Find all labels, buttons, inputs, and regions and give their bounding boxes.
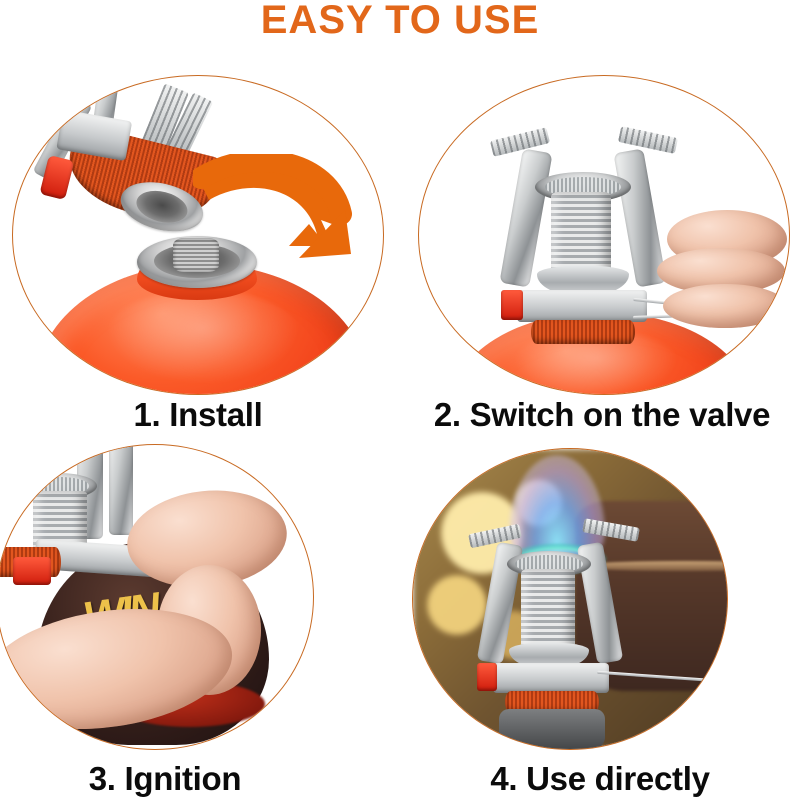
- step-4-caption: 4. Use directly: [400, 760, 800, 798]
- step-1-caption: 1. Install: [12, 396, 384, 434]
- stove-base-block: [56, 109, 132, 161]
- stove-base-block: [493, 663, 609, 693]
- hand: [87, 481, 314, 731]
- piezo-ignition-button: [501, 290, 523, 320]
- step-1-photo: [12, 75, 384, 395]
- page-title: EASY TO USE: [0, 0, 800, 43]
- step-4-illustration: [413, 449, 727, 749]
- stove-arm-top-right: [618, 126, 678, 154]
- step-2-caption: 2. Switch on the valve: [404, 396, 800, 434]
- curved-down-arrow-icon: [193, 154, 353, 274]
- finger-middle: [663, 284, 787, 328]
- burner-body: [551, 192, 611, 276]
- piezo-ignition-button: [13, 557, 51, 585]
- step-3-illustration: WIN: [0, 445, 313, 749]
- step-3-photo: WIN: [0, 444, 314, 750]
- gas-canister: [499, 709, 605, 750]
- step-2-photo: [418, 75, 790, 395]
- step-3-caption: 3. Ignition: [0, 760, 330, 798]
- product-infographic: EASY TO USE: [0, 0, 800, 800]
- step-2-illustration: [419, 76, 789, 394]
- step-1-illustration: [13, 76, 383, 394]
- stove-knurled-collar: [531, 320, 635, 344]
- burner-body: [521, 569, 575, 651]
- piezo-ignition-button: [477, 663, 497, 691]
- step-4-photo: [412, 448, 728, 750]
- canister-highlight: [103, 290, 303, 386]
- stove-arm-top-right: [582, 518, 640, 542]
- stove-arm-left: [499, 148, 552, 287]
- stove-assembly: [473, 507, 673, 727]
- stove-base-block: [517, 290, 647, 322]
- hand: [657, 204, 790, 344]
